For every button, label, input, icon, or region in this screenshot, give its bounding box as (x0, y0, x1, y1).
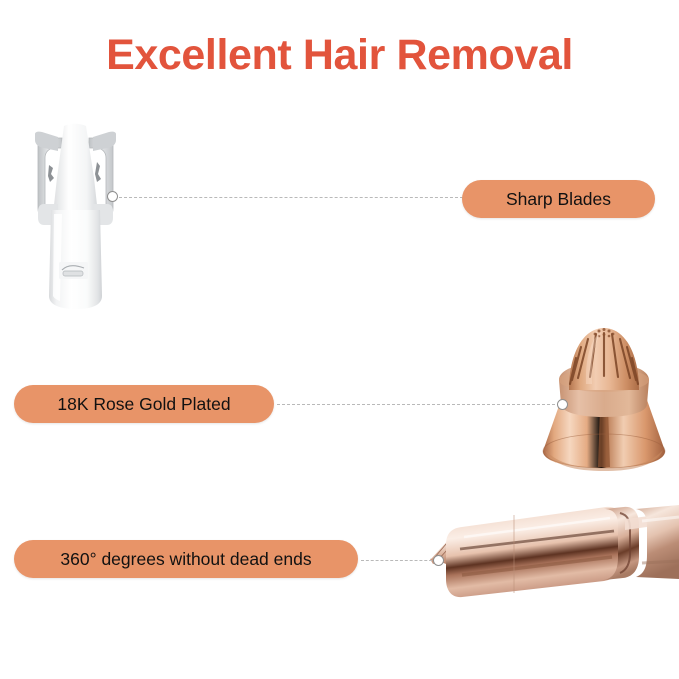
rose-gold-trimmer-image (418, 485, 679, 630)
anchor-node-degrees (433, 555, 444, 566)
callout-rose-gold: 18K Rose Gold Plated (14, 385, 274, 423)
callout-degrees: 360° degrees without dead ends (14, 540, 358, 578)
left-hinge-pin (48, 165, 54, 182)
white-blade-cap-svg (18, 118, 133, 313)
anchor-node-sharp-blades (107, 191, 118, 202)
white-blade-cap-image (18, 118, 133, 313)
anchor-node-rose-gold (557, 399, 568, 410)
leader-line-sharp-blades (119, 197, 463, 198)
trimmer-handle (636, 505, 679, 579)
page-title: Excellent Hair Removal (0, 31, 679, 80)
rose-gold-trimmer-svg (418, 485, 679, 630)
embossed-logo-mark (59, 262, 88, 279)
leader-line-rose-gold (277, 404, 560, 405)
product-infographic: Excellent Hair Removal (0, 0, 679, 679)
callout-sharp-blades: Sharp Blades (462, 180, 655, 218)
rose-gold-head-image (528, 318, 679, 473)
handle-shadow (642, 561, 679, 563)
cap-cone (53, 124, 98, 214)
rose-gold-head-svg (528, 318, 679, 473)
right-hinge-pin (95, 162, 101, 182)
leader-line-degrees (361, 560, 437, 561)
